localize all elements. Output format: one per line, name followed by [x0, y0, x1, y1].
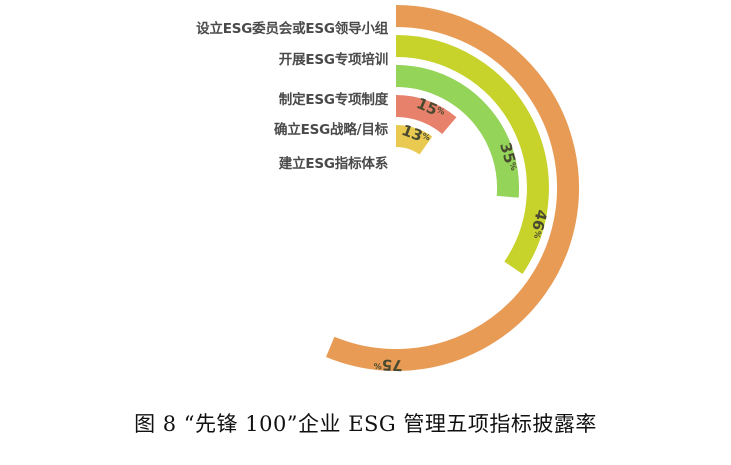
value-label-1-number: 75: [381, 356, 403, 375]
figure-container: 75% 46% 35% 15% 13% 设立ESG委员会或ESG领导小组 开展E…: [0, 0, 731, 465]
category-label-2: 开展ESG专项培训: [279, 48, 388, 68]
value-label-1-percent: %: [374, 361, 382, 370]
category-label-5: 建立ESG指标体系: [279, 152, 388, 172]
category-label-4: 确立ESG战略/目标: [274, 118, 388, 138]
figure-caption: 图 8 “先锋 100”企业 ESG 管理五项指标披露率: [0, 408, 731, 438]
category-label-1: 设立ESG委员会或ESG领导小组: [196, 17, 388, 37]
category-label-3: 制定ESG专项制度: [279, 88, 388, 108]
